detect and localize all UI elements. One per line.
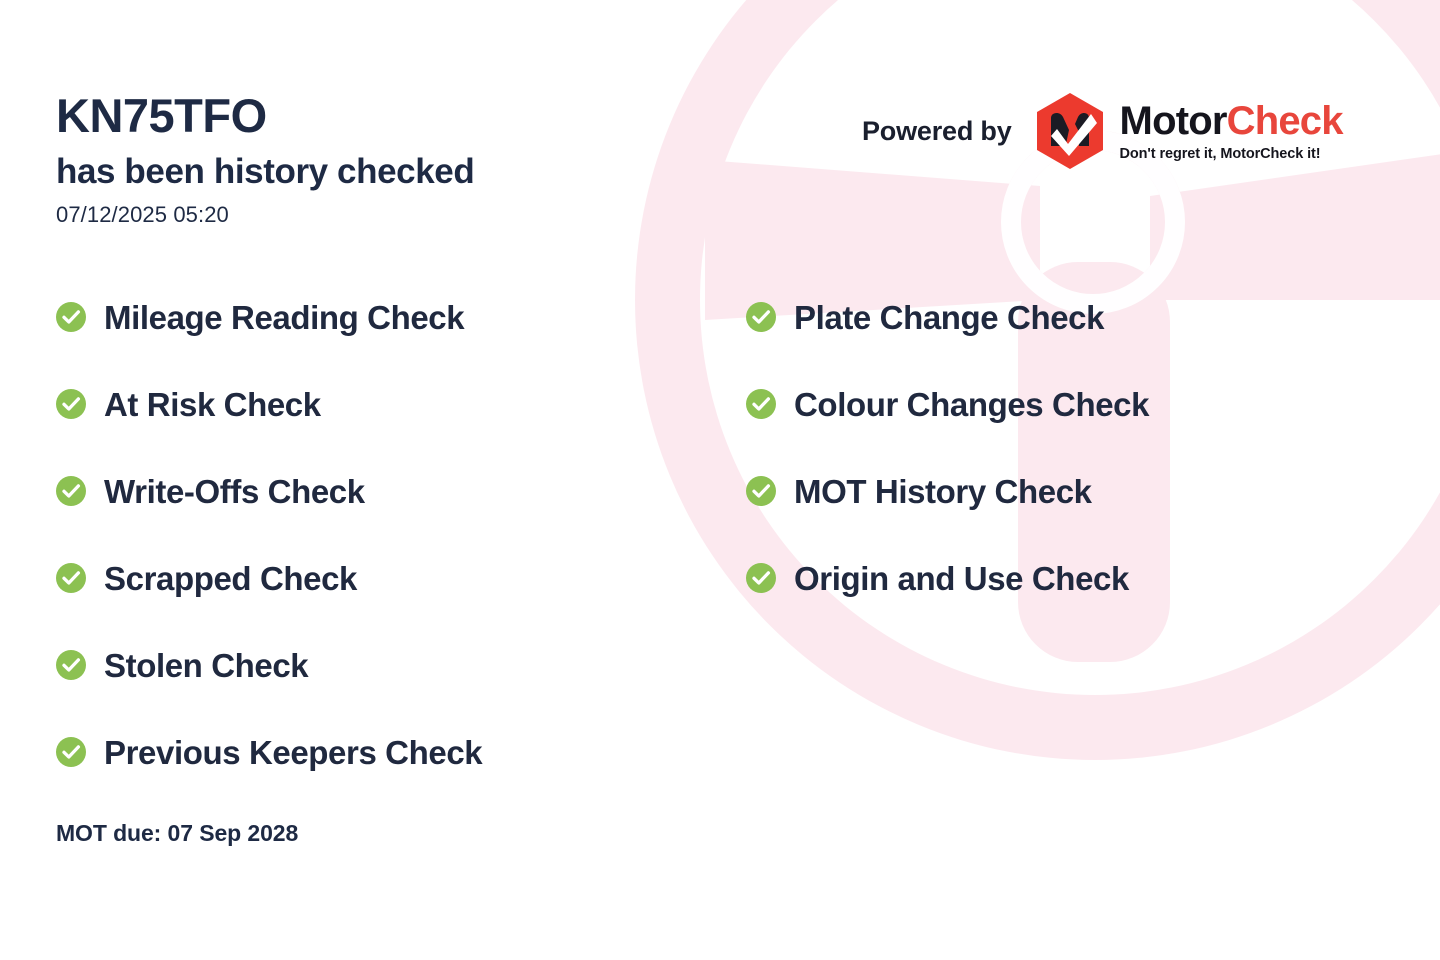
check-label: Write-Offs Check	[104, 475, 365, 508]
motorcheck-hexagon-icon	[1034, 92, 1106, 170]
check-circle-icon	[746, 476, 776, 506]
check-label: Previous Keepers Check	[104, 736, 482, 769]
report-timestamp: 07/12/2025 05:20	[56, 202, 696, 228]
check-label: Mileage Reading Check	[104, 301, 464, 334]
check-label: Colour Changes Check	[794, 388, 1149, 421]
check-item-origin-and-use: Origin and Use Check	[746, 553, 1386, 603]
registration-plate: KN75TFO	[56, 92, 696, 139]
checks-column-right: Plate Change Check Colour Changes Check …	[746, 292, 1386, 640]
check-item-previous-keepers: Previous Keepers Check	[56, 727, 716, 777]
wordmark-motor: Motor	[1120, 99, 1227, 143]
check-label: Stolen Check	[104, 649, 308, 682]
check-item-plate-change: Plate Change Check	[746, 292, 1386, 342]
check-item-scrapped: Scrapped Check	[56, 553, 716, 603]
motorcheck-logo[interactable]: MotorCheck Don't regret it, MotorCheck i…	[1034, 92, 1343, 170]
report-card: KN75TFO has been history checked 07/12/2…	[0, 0, 1440, 960]
header-block: KN75TFO has been history checked 07/12/2…	[56, 92, 696, 228]
wordmark-check: Check	[1227, 99, 1343, 143]
powered-by-label: Powered by	[862, 116, 1012, 147]
check-item-write-offs: Write-Offs Check	[56, 466, 716, 516]
checks-column-left: Mileage Reading Check At Risk Check Writ…	[56, 292, 716, 814]
mot-due-note: MOT due: 07 Sep 2028	[56, 820, 298, 847]
check-circle-icon	[56, 389, 86, 419]
check-item-mileage-reading: Mileage Reading Check	[56, 292, 716, 342]
check-circle-icon	[56, 476, 86, 506]
check-label: Origin and Use Check	[794, 562, 1129, 595]
motorcheck-wordmark: MotorCheck Don't regret it, MotorCheck i…	[1120, 101, 1343, 162]
check-item-at-risk: At Risk Check	[56, 379, 716, 429]
check-circle-icon	[746, 302, 776, 332]
check-label: Scrapped Check	[104, 562, 357, 595]
check-item-colour-changes: Colour Changes Check	[746, 379, 1386, 429]
check-circle-icon	[56, 302, 86, 332]
check-item-stolen: Stolen Check	[56, 640, 716, 690]
branding-block: Powered by MotorCheck Don't regret it, M…	[862, 92, 1343, 170]
check-label: Plate Change Check	[794, 301, 1104, 334]
check-circle-icon	[56, 737, 86, 767]
check-item-mot-history: MOT History Check	[746, 466, 1386, 516]
check-circle-icon	[746, 563, 776, 593]
brand-tagline: Don't regret it, MotorCheck it!	[1120, 146, 1343, 162]
check-circle-icon	[56, 563, 86, 593]
check-circle-icon	[746, 389, 776, 419]
check-label: At Risk Check	[104, 388, 321, 421]
check-circle-icon	[56, 650, 86, 680]
page-title: has been history checked	[56, 151, 696, 192]
check-label: MOT History Check	[794, 475, 1092, 508]
